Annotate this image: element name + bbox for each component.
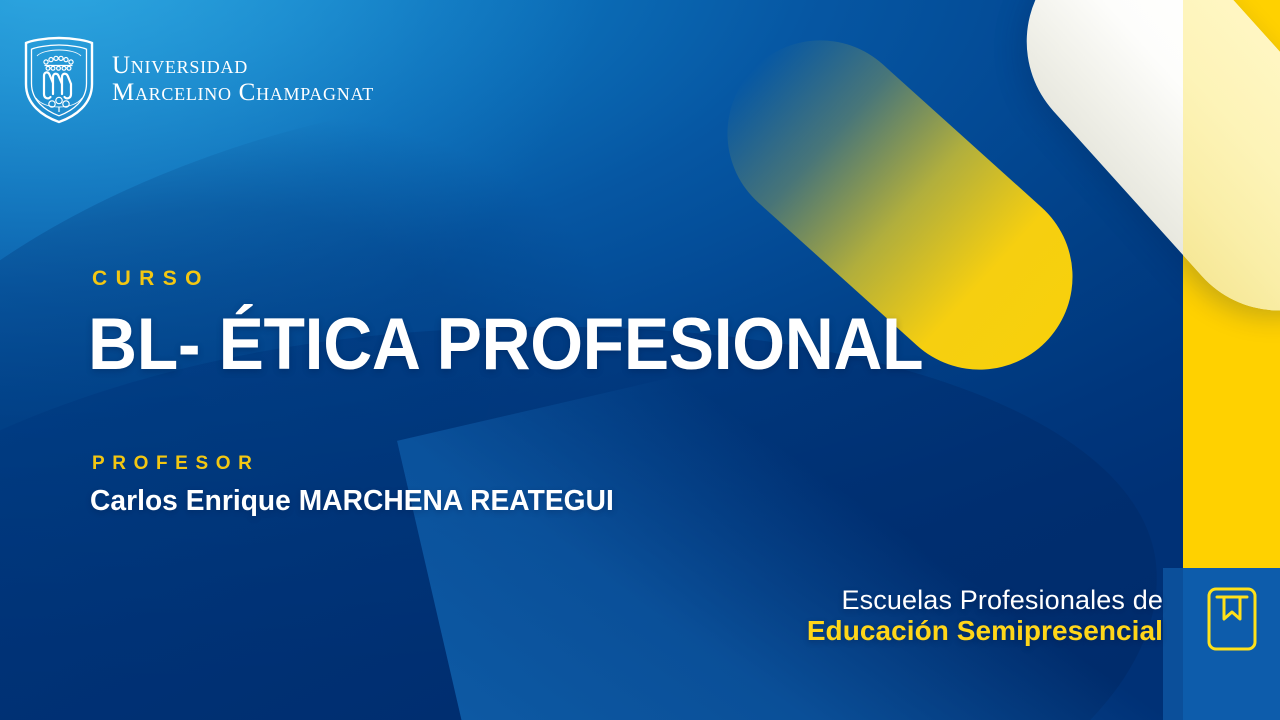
decorative-pill-white-over-band — [1183, 0, 1280, 568]
professor-eyebrow-label: PROFESOR — [92, 453, 259, 475]
footer-line-1: Escuelas Profesionales de — [807, 585, 1163, 615]
course-eyebrow-label: CURSO — [92, 267, 210, 291]
footer-line-2: Educación Semipresencial — [807, 615, 1163, 646]
university-wordmark: Universidad Marcelino Champagnat — [112, 53, 374, 107]
slide-canvas: Universidad Marcelino Champagnat CURSO B… — [0, 0, 1280, 720]
university-crest-icon — [22, 36, 96, 124]
book-bookmark-icon — [1206, 586, 1258, 652]
wordmark-line-1: Universidad — [112, 53, 374, 80]
wordmark-line-2: Marcelino Champagnat — [112, 80, 374, 107]
professor-name: Carlos Enrique MARCHENA REATEGUI — [90, 487, 614, 516]
footer-panel-edge — [1163, 568, 1183, 720]
university-logo: Universidad Marcelino Champagnat — [22, 36, 374, 124]
course-title: BL- ÉTICA PROFESIONAL — [88, 308, 923, 381]
program-footer: Escuelas Profesionales de Educación Semi… — [807, 585, 1163, 647]
